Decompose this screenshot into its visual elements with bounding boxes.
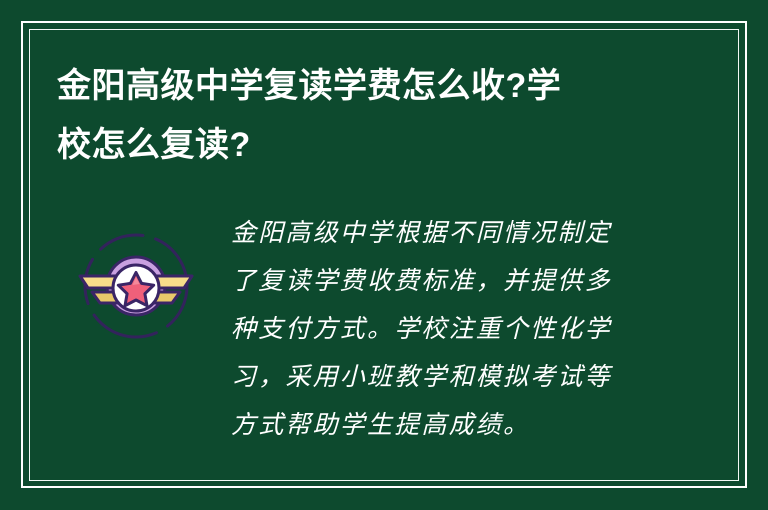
winged-star-badge-icon <box>74 224 198 348</box>
poster-canvas: 金阳高级中学复读学费怎么收?学 校怎么复读? 金阳高级中学根据不同情况制定 了复 <box>0 0 768 510</box>
body-line-1: 金阳高级中学根据不同情况制定 <box>231 209 671 257</box>
body-paragraph: 金阳高级中学根据不同情况制定 了复读学费收费标准，并提供多 种支付方式。学校注重… <box>231 209 671 449</box>
body-line-3: 种支付方式。学校注重个性化学 <box>231 305 671 353</box>
page-title-line-2: 校怎么复读? <box>57 116 657 175</box>
body-line-4: 习，采用小班教学和模拟考试等 <box>231 353 671 401</box>
body-line-2: 了复读学费收费标准，并提供多 <box>231 257 671 305</box>
body-line-5: 方式帮助学生提高成绩。 <box>231 401 671 449</box>
page-title: 金阳高级中学复读学费怎么收?学 校怎么复读? <box>57 57 657 175</box>
page-title-line-1: 金阳高级中学复读学费怎么收?学 <box>57 57 657 116</box>
